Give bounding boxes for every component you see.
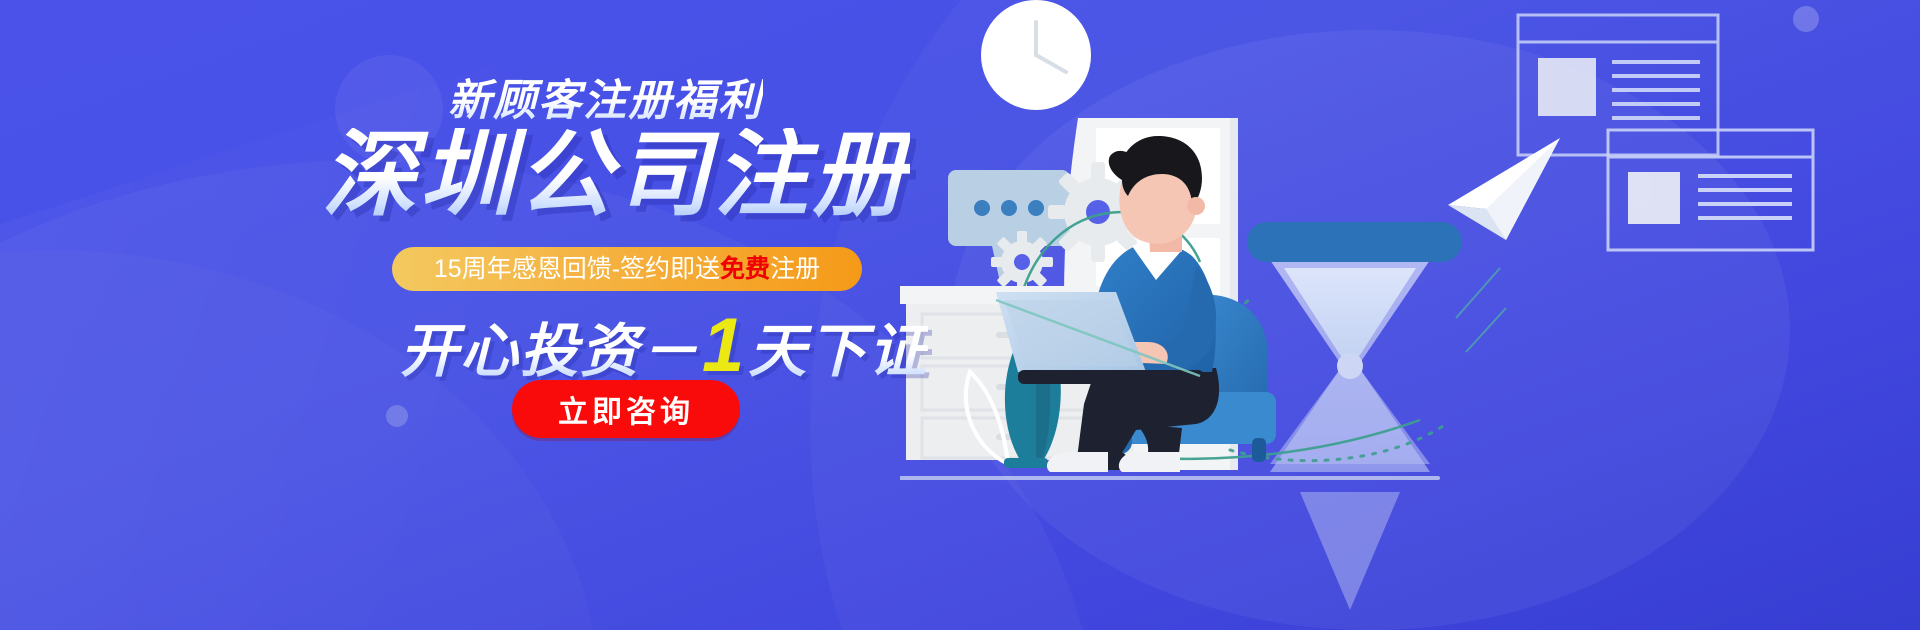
subline-suffix: 天下证 (748, 319, 928, 384)
copy-block: 新顾客注册福利 深圳公司注册 15周年感恩回馈-签约即送免费注册 开心投资－1天… (0, 0, 960, 630)
page-title: 深圳公司注册 (322, 128, 910, 222)
promo-pill: 15周年感恩回馈-签约即送免费注册 (392, 247, 862, 291)
floor-line (900, 476, 1440, 480)
consult-now-button[interactable]: 立即咨询 (512, 380, 740, 438)
promo-pill-text: 15周年感恩回馈-签约即送免费注册 (434, 257, 820, 282)
subline: 开心投资－1天下证 (400, 308, 928, 384)
subline-number: 1 (700, 303, 748, 388)
consult-now-button-label: 立即咨询 (558, 387, 694, 431)
illustration-scene (900, 0, 1920, 630)
promo-pill-suffix: 注册 (770, 255, 820, 283)
promo-pill-highlight: 免费 (720, 255, 770, 283)
eyebrow-text: 新顾客注册福利 (448, 66, 763, 128)
promo-banner: 新顾客注册福利 深圳公司注册 15周年感恩回馈-签约即送免费注册 开心投资－1天… (0, 0, 1920, 630)
gear-small-icon (991, 231, 1053, 293)
clock-icon-visible (981, 0, 1091, 110)
promo-pill-prefix: 15周年感恩回馈-签约即送 (434, 255, 720, 283)
subline-prefix: 开心投资－ (400, 319, 700, 384)
